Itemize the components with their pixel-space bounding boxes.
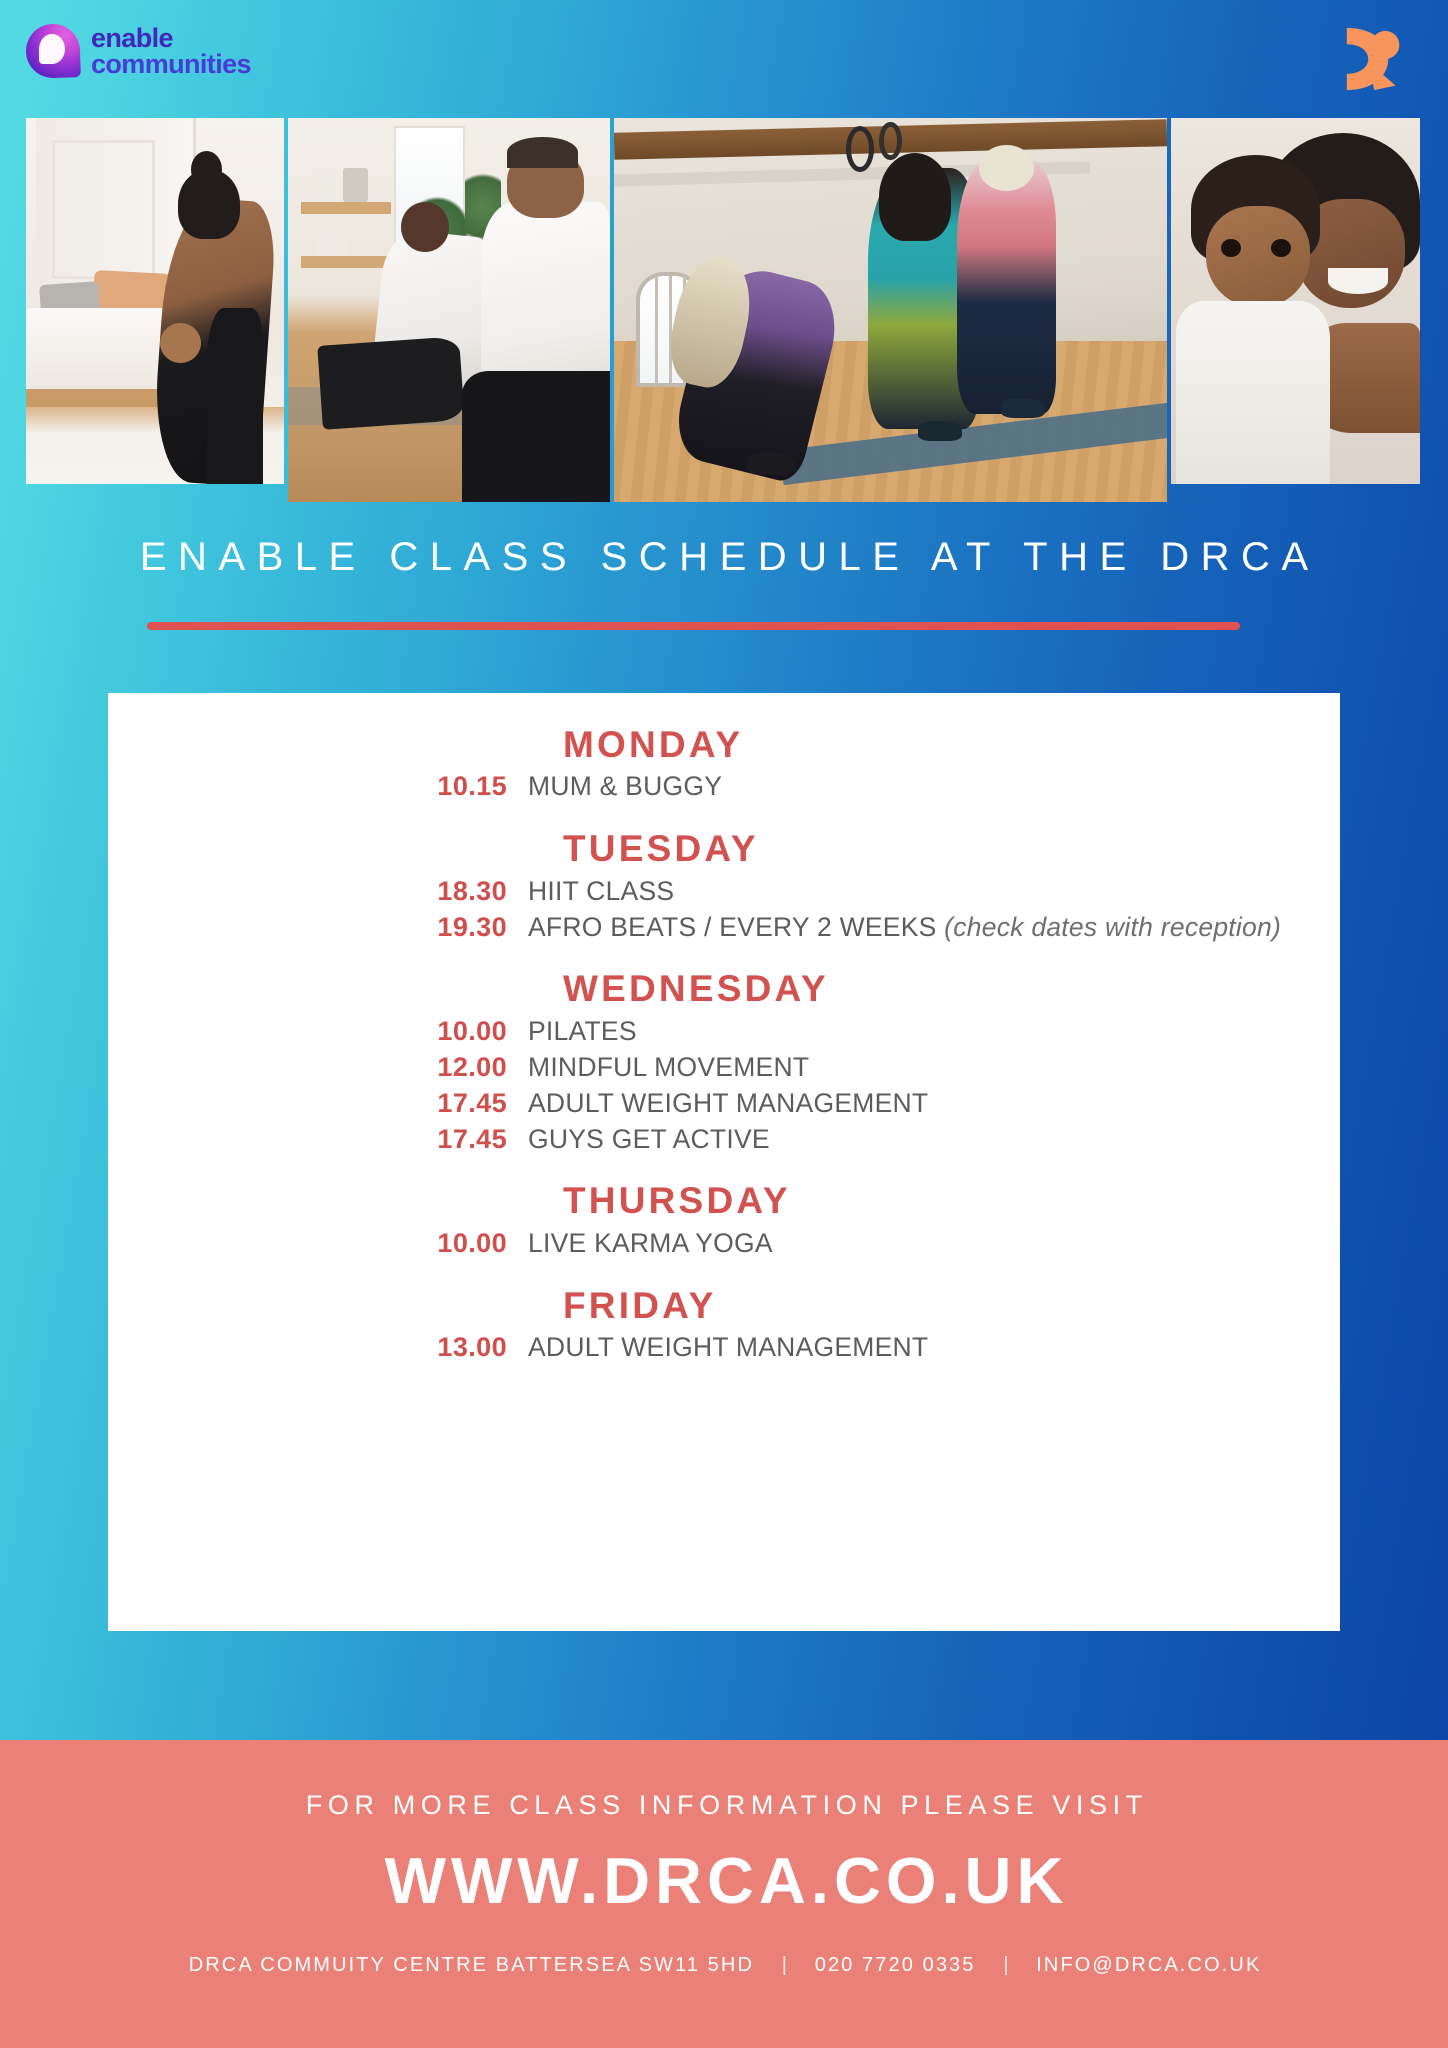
title-underline-rule: [147, 622, 1240, 630]
class-name: HIIT CLASS: [528, 874, 1340, 909]
class-name: PILATES: [528, 1014, 1340, 1049]
class-name: LIVE KARMA YOGA: [528, 1226, 1340, 1261]
schedule-day-group: TUESDAY18.30HIIT CLASS19.30AFRO BEATS / …: [108, 825, 1340, 945]
day-heading: WEDNESDAY: [108, 965, 1340, 1012]
drca-person-r-logo-icon: [1332, 22, 1406, 96]
class-name: MUM & BUGGY: [528, 769, 1340, 804]
footer-website-url[interactable]: WWW.DRCA.CO.UK: [0, 1843, 1448, 1918]
photo-strip: [26, 118, 1422, 502]
photo-mat-class: [288, 118, 610, 502]
schedule-card: MONDAY10.15MUM & BUGGYTUESDAY18.30HIIT C…: [108, 693, 1340, 1631]
class-time: 10.00: [108, 1226, 528, 1262]
footer-separator-2: |: [983, 1954, 1028, 1977]
class-time: 13.00: [108, 1330, 528, 1366]
schedule-day-group: WEDNESDAY10.00PILATES12.00MINDFUL MOVEME…: [108, 965, 1340, 1157]
day-heading: FRIDAY: [108, 1282, 1340, 1329]
brand-line-2: communities: [91, 51, 251, 77]
photo-dance-class: [614, 118, 1167, 502]
class-time: 17.45: [108, 1122, 528, 1158]
schedule-row: 17.45ADULT WEIGHT MANAGEMENT: [108, 1086, 1340, 1122]
schedule-day-group: THURSDAY10.00LIVE KARMA YOGA: [108, 1177, 1340, 1261]
class-name: ADULT WEIGHT MANAGEMENT: [528, 1330, 1340, 1365]
schedule-row: 10.00LIVE KARMA YOGA: [108, 1226, 1340, 1262]
schedule-row: 12.00MINDFUL MOVEMENT: [108, 1050, 1340, 1086]
photo-stretching: [26, 118, 284, 484]
class-time: 10.15: [108, 769, 528, 805]
schedule-list: MONDAY10.15MUM & BUGGYTUESDAY18.30HIIT C…: [108, 721, 1340, 1368]
class-time: 19.30: [108, 910, 528, 946]
class-name: MINDFUL MOVEMENT: [528, 1050, 1340, 1085]
footer-contact-line: DRCA COMMUITY CENTRE BATTERSEA SW11 5HD …: [0, 1954, 1448, 1977]
photo-mum-and-baby: [1171, 118, 1420, 484]
footer-address: DRCA COMMUITY CENTRE BATTERSEA SW11 5HD: [189, 1954, 754, 1976]
class-time: 12.00: [108, 1050, 528, 1086]
schedule-row: 13.00ADULT WEIGHT MANAGEMENT: [108, 1330, 1340, 1366]
class-time: 10.00: [108, 1014, 528, 1050]
class-note: (check dates with reception): [944, 912, 1281, 942]
footer-visit-line: FOR MORE CLASS INFORMATION PLEASE VISIT: [0, 1790, 1448, 1821]
footer-phone[interactable]: 020 7720 0335: [815, 1954, 976, 1976]
day-heading: MONDAY: [108, 721, 1340, 768]
day-heading: TUESDAY: [108, 825, 1340, 872]
day-heading: THURSDAY: [108, 1177, 1340, 1224]
class-name: ADULT WEIGHT MANAGEMENT: [528, 1086, 1340, 1121]
poster-root: enable communities: [0, 0, 1448, 2048]
schedule-row: 19.30AFRO BEATS / EVERY 2 WEEKS (check d…: [108, 910, 1340, 946]
class-name-text: AFRO BEATS / EVERY 2 WEEKS: [528, 912, 937, 942]
enable-communities-logo: enable communities: [26, 24, 251, 78]
schedule-row: 17.45GUYS GET ACTIVE: [108, 1122, 1340, 1158]
class-time: 18.30: [108, 874, 528, 910]
schedule-row: 18.30HIIT CLASS: [108, 874, 1340, 910]
class-name: AFRO BEATS / EVERY 2 WEEKS (check dates …: [528, 910, 1340, 945]
enable-communities-wordmark: enable communities: [91, 25, 251, 78]
class-time: 17.45: [108, 1086, 528, 1122]
schedule-row: 10.15MUM & BUGGY: [108, 769, 1340, 805]
footer: FOR MORE CLASS INFORMATION PLEASE VISIT …: [0, 1740, 1448, 2048]
schedule-day-group: FRIDAY13.00ADULT WEIGHT MANAGEMENT: [108, 1282, 1340, 1366]
enable-speech-bubble-logo-icon: [26, 24, 80, 78]
schedule-row: 10.00PILATES: [108, 1014, 1340, 1050]
footer-separator-1: |: [762, 1954, 807, 1977]
schedule-day-group: MONDAY10.15MUM & BUGGY: [108, 721, 1340, 805]
footer-email[interactable]: INFO@DRCA.CO.UK: [1036, 1954, 1261, 1976]
class-name: GUYS GET ACTIVE: [528, 1122, 1340, 1157]
page-title: ENABLE CLASS SCHEDULE AT THE DRCA: [0, 535, 1448, 580]
brand-line-1: enable: [91, 25, 251, 51]
